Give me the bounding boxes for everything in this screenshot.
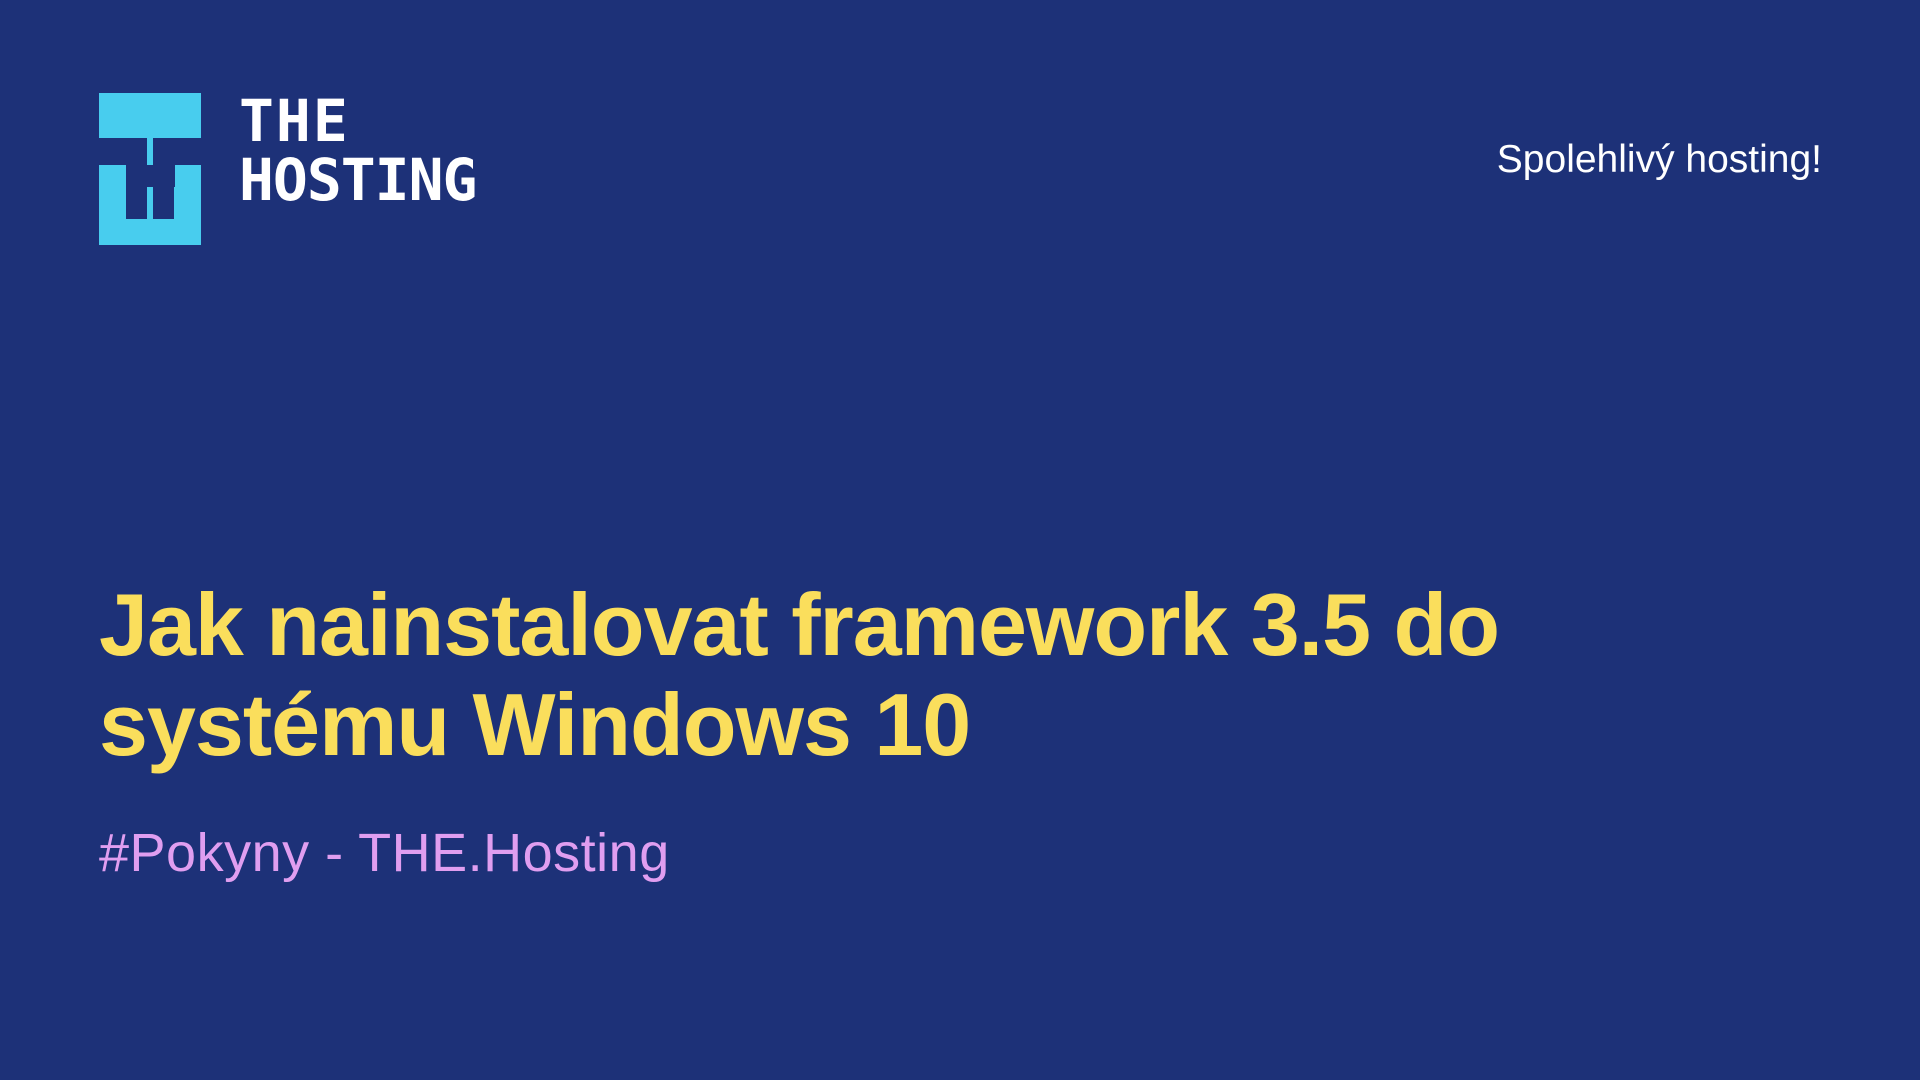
monogram-cut-top-right [174, 138, 201, 165]
page-header: THE HOSTING Spolehlivý hosting! [0, 0, 1920, 260]
page-subtitle: #Pokyny - THE.Hosting [99, 824, 1859, 883]
header-tagline: Spolehlivý hosting! [1497, 140, 1822, 179]
main-content: Jak nainstalovat framework 3.5 do systém… [99, 575, 1859, 883]
monogram-cut-top-left [99, 138, 126, 165]
page-title: Jak nainstalovat framework 3.5 do systém… [99, 575, 1829, 776]
brand-wordmark: THE HOSTING [239, 93, 476, 208]
the-hosting-monogram-icon [99, 93, 201, 245]
monogram-cut-left [126, 138, 147, 219]
monogram-cut-middle [147, 165, 175, 187]
brand-wordmark-line-2: HOSTING [239, 154, 476, 207]
brand-logo[interactable]: THE HOSTING [99, 93, 476, 245]
brand-wordmark-line-1: THE [239, 95, 476, 148]
